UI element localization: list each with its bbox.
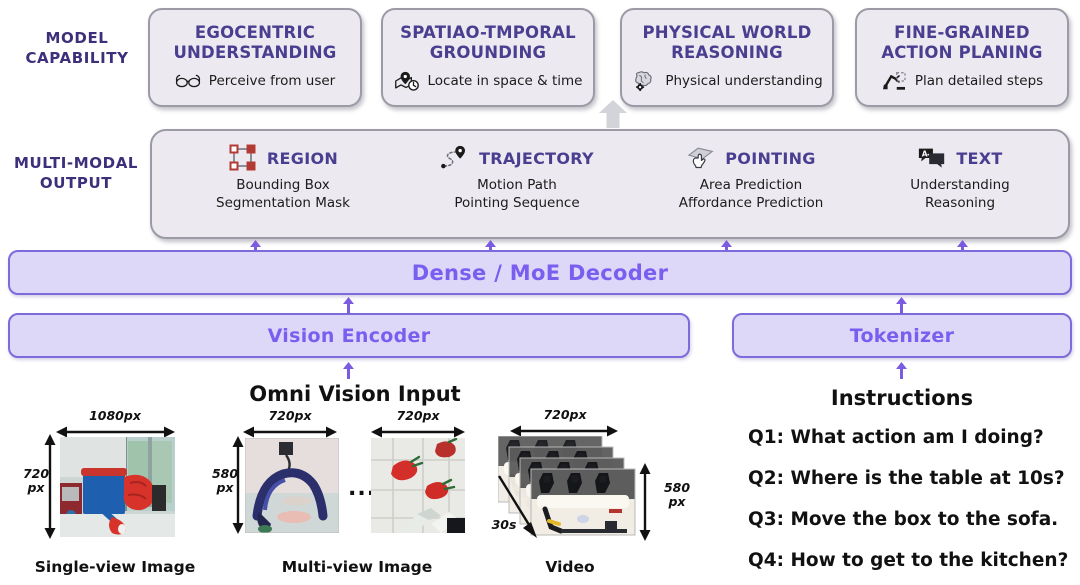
capability-card-physical-world-reasoning[interactable]: PHYSICAL WORLDREASONING Physical underst…	[620, 8, 834, 107]
multi-view-photo-left-content	[245, 438, 339, 533]
video-height-label: 580px	[660, 481, 694, 509]
row-label-multimodal-output: MULTI-MODALOUTPUT	[0, 153, 152, 194]
flow-arrow-vision-input-to-encoder	[343, 362, 354, 379]
map-pin-clock-icon	[394, 70, 420, 92]
instructions-heading: Instructions	[742, 386, 1062, 410]
capability-subtitle: Plan detailed steps	[915, 73, 1043, 89]
svg-text:A: A	[922, 149, 928, 158]
row-label-model-capability: MODELCAPABILITY	[8, 28, 146, 69]
multi-view-caption: Multi-view Image	[254, 558, 460, 576]
flow-arrow-instructions-to-tokenizer	[896, 362, 907, 379]
output-item-pointing[interactable]: POINTING Area PredictionAffordance Predi…	[638, 143, 864, 233]
capability-card-spatio-temporal-grounding[interactable]: SPATIAO-TMPORALGROUNDING Locate in space…	[381, 8, 595, 107]
output-description: Motion PathPointing Sequence	[404, 177, 630, 213]
omni-vision-input-heading: Omni Vision Input	[185, 382, 525, 406]
multi-view-width-label-a: 720px	[245, 409, 335, 423]
capability-title: PHYSICAL WORLDREASONING	[637, 23, 818, 63]
multi-view-width-arrow-b	[371, 425, 465, 439]
instruction-item: Q3: Move the box to the sofa.	[748, 509, 1058, 530]
capability-subtitle: Locate in space & time	[428, 73, 583, 89]
vision-encoder-block[interactable]: Vision Encoder	[8, 313, 690, 358]
capability-subtitle-row: Locate in space & time	[394, 70, 583, 92]
output-title: POINTING	[725, 149, 815, 168]
output-head: TRAJECTORY	[404, 143, 630, 173]
output-head: A TEXT	[852, 143, 1068, 173]
glasses-icon	[175, 70, 201, 92]
output-item-trajectory[interactable]: TRAJECTORY Motion PathPointing Sequence	[404, 143, 630, 233]
capability-subtitle-row: Physical understanding	[631, 70, 822, 92]
multi-view-photo-right	[371, 438, 465, 533]
instruction-item: Q2: Where is the table at 10s?	[748, 468, 1065, 489]
multi-view-width-arrow-a	[243, 425, 337, 439]
output-head: REGION	[170, 143, 396, 173]
output-head: POINTING	[638, 143, 864, 173]
multimodal-output-panel: REGION Bounding BoxSegmentation Mask TRA…	[150, 129, 1070, 239]
output-description: UnderstandingReasoning	[852, 177, 1068, 213]
tokenizer-block[interactable]: Tokenizer	[732, 313, 1072, 358]
bounding-box-icon	[228, 144, 258, 172]
multi-view-photo-right-content	[371, 438, 465, 533]
flow-arrow-vision-encoder-to-decoder	[343, 297, 354, 314]
output-description: Area PredictionAffordance Prediction	[638, 177, 864, 213]
single-view-height-arrow	[43, 434, 57, 539]
flow-arrow-up-gray	[598, 100, 628, 128]
multi-view-height-arrow	[231, 436, 245, 534]
robot-arm-icon	[881, 70, 907, 92]
capability-title: EGOCENTRICUNDERSTANDING	[167, 23, 342, 63]
single-view-width-label: 1080px	[55, 409, 175, 423]
pointing-hand-icon	[686, 144, 716, 172]
capability-title: SPATIAO-TMPORALGROUNDING	[394, 23, 582, 63]
diagram-canvas: MODELCAPABILITY MULTI-MODALOUTPUT EGOCEN…	[0, 0, 1080, 585]
video-duration-label: 30s	[487, 518, 521, 532]
flow-arrow-tokenizer-to-decoder	[896, 297, 907, 314]
capability-subtitle-row: Perceive from user	[175, 70, 335, 92]
multi-view-width-label-b: 720px	[373, 409, 463, 423]
output-title: TEXT	[956, 149, 1002, 168]
decoder-block[interactable]: Dense / MoE Decoder	[8, 250, 1072, 295]
capability-subtitle: Physical understanding	[665, 73, 822, 89]
video-caption: Video	[500, 558, 640, 576]
output-item-region[interactable]: REGION Bounding BoxSegmentation Mask	[170, 143, 396, 233]
capability-card-fine-grained-action-planing[interactable]: FINE-GRAINEDACTION PLANING Plan detailed…	[855, 8, 1069, 107]
capability-subtitle: Perceive from user	[209, 73, 335, 89]
instruction-item: Q1: What action am I doing?	[748, 427, 1044, 448]
trajectory-path-icon	[440, 144, 470, 172]
capability-card-egocentric-understanding[interactable]: EGOCENTRICUNDERSTANDING Perceive from us…	[148, 8, 362, 107]
instruction-item: Q4: How to get to the kitchen?	[748, 550, 1068, 571]
capability-subtitle-row: Plan detailed steps	[881, 70, 1043, 92]
single-view-caption: Single-view Image	[15, 558, 215, 576]
output-item-text[interactable]: A TEXT UnderstandingReasoning	[852, 143, 1068, 233]
single-view-photo	[60, 437, 175, 537]
chat-bubbles-icon: A	[917, 144, 947, 172]
video-width-label: 720px	[520, 408, 610, 422]
video-height-arrow	[638, 463, 652, 541]
output-title: REGION	[267, 149, 338, 168]
single-view-photo-content	[60, 437, 175, 537]
output-description: Bounding BoxSegmentation Mask	[170, 177, 396, 213]
output-title: TRAJECTORY	[479, 149, 594, 168]
capability-title: FINE-GRAINEDACTION PLANING	[875, 23, 1048, 63]
brain-gear-icon	[631, 70, 657, 92]
multi-view-photo-left	[245, 438, 339, 533]
